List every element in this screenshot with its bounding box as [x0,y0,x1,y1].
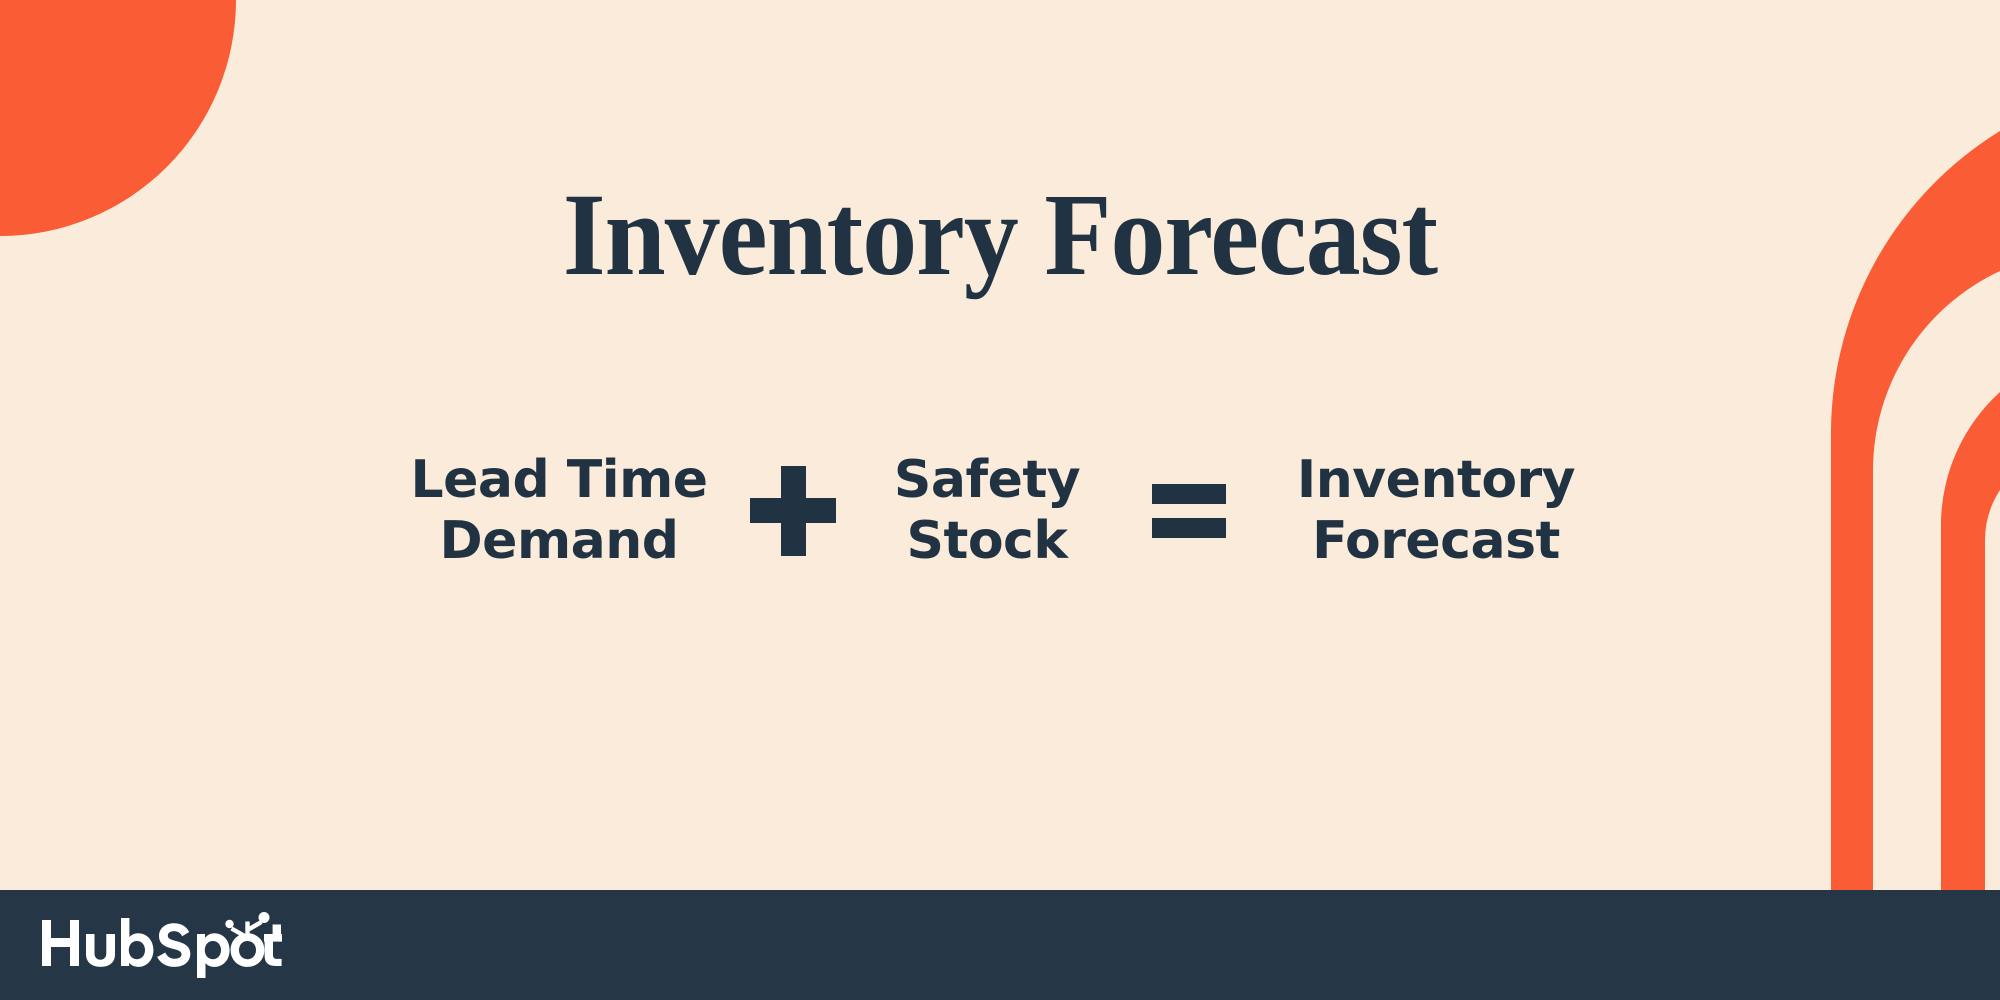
main-content: Inventory Forecast Lead Time Demand Safe… [0,0,2000,890]
page-title: Inventory Forecast [70,176,1930,294]
formula-term-line2: Demand [394,511,724,572]
hubspot-logo [42,912,282,978]
footer-bar [0,890,2000,1000]
equals-icon [1152,484,1226,538]
infographic-canvas: Inventory Forecast Lead Time Demand Safe… [0,0,2000,1000]
formula-term-line2: Stock [862,511,1112,572]
plus-icon [750,466,836,556]
formula-term-line2: Forecast [1266,511,1606,572]
formula-term-line1: Inventory [1297,450,1575,510]
formula-term-safety-stock: Safety Stock [862,450,1112,572]
formula-term-line1: Lead Time [410,450,707,510]
formula-term-lead-time-demand: Lead Time Demand [394,450,724,572]
formula-term-inventory-forecast: Inventory Forecast [1266,450,1606,572]
formula-term-line1: Safety [894,450,1080,510]
formula-row: Lead Time Demand Safety Stock Inventory … [0,450,2000,572]
